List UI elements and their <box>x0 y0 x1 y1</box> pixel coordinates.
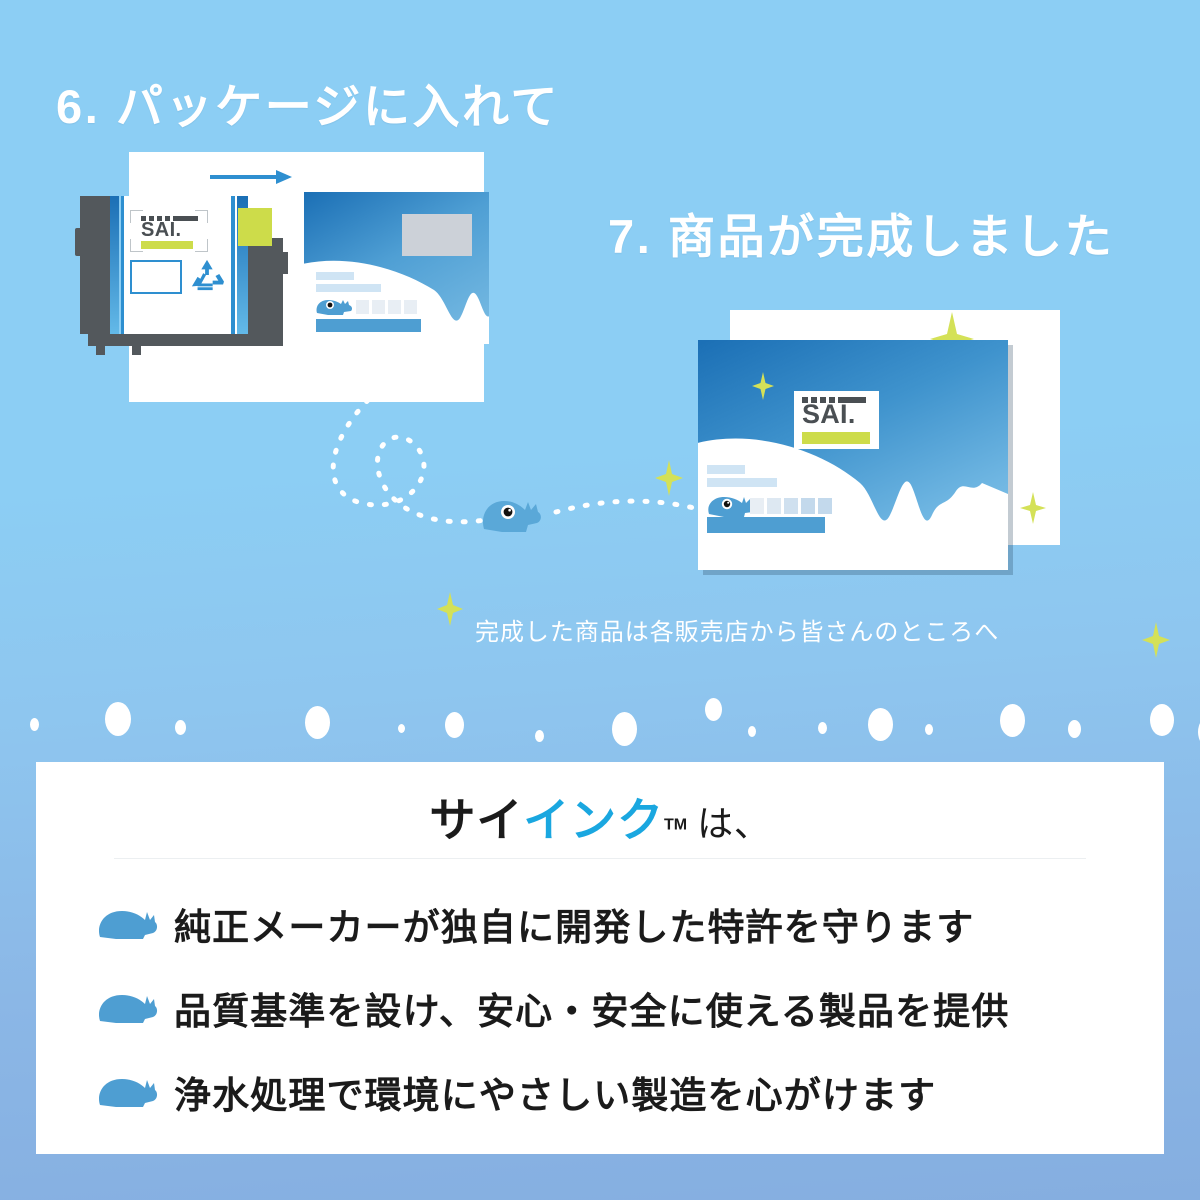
list-item-label: 浄水処理で環境にやさしい製造を心がけます <box>174 1065 936 1119</box>
packaging-illustration: SAI. <box>80 130 500 415</box>
list-item-label: 純正メーカーが独自に開発した特許を守ります <box>174 897 974 951</box>
divider-dot <box>612 712 637 746</box>
packaging-machine: SAI. <box>80 196 292 348</box>
list-item-label: 品質基準を設け、安心・安全に使える製品を提供 <box>174 981 1009 1035</box>
rhino-mascot-icon <box>480 495 542 535</box>
divider-dot <box>1150 704 1174 736</box>
dot-divider <box>0 690 1200 740</box>
sai-logo-text: SAI. <box>802 401 856 428</box>
recycle-icon <box>188 258 226 292</box>
sai-logo-text: SAI. <box>141 220 182 240</box>
arrow-right-icon <box>210 170 300 184</box>
up-arrow-icon <box>238 208 272 246</box>
divider-dot <box>398 724 405 733</box>
divider-dot <box>445 712 464 738</box>
divider-dot <box>925 724 933 735</box>
list-item: 品質基準を設け、安心・安全に使える製品を提供 <box>96 966 1106 1050</box>
rhino-mascot-icon <box>314 296 354 316</box>
brand-cyan-text: インク <box>523 794 664 846</box>
divider-dot <box>175 720 186 735</box>
finished-product-illustration: SAI. <box>690 300 1070 575</box>
divider-dot <box>818 722 827 734</box>
card-divider <box>114 858 1086 859</box>
package-logo-sai: SAI. <box>794 391 879 449</box>
brand-title: サイインクTMは、 <box>36 784 1164 850</box>
sparkle-icon <box>437 592 463 626</box>
brand-card: サイインクTMは、 純正メーカーが独自に開発した特許を守ります 品質基準を設け、… <box>36 762 1164 1154</box>
box-panel <box>130 260 182 294</box>
machine-knob-icon <box>75 228 84 256</box>
product-package-small <box>304 192 489 344</box>
sparkle-icon <box>1020 492 1046 524</box>
rhino-bullet-icon <box>96 1075 158 1109</box>
step-6-heading: 6. パッケージに入れて <box>56 68 560 137</box>
divider-dot <box>1000 704 1025 737</box>
trademark-mark: TM <box>664 817 687 834</box>
benefit-list: 純正メーカーが独自に開発した特許を守ります 品質基準を設け、安心・安全に使える製… <box>96 882 1106 1134</box>
divider-dot <box>305 706 330 739</box>
box-logo-sai: SAI. <box>130 210 208 252</box>
step-7-heading: 7. 商品が完成しました <box>608 198 1114 267</box>
rhino-bullet-icon <box>96 991 158 1025</box>
sparkle-icon <box>655 460 683 496</box>
list-item: 純正メーカーが独自に開発した特許を守ります <box>96 882 1106 966</box>
infographic-page: 6. パッケージに入れて <box>0 0 1200 1200</box>
sparkle-icon <box>1142 622 1170 658</box>
list-item: 浄水処理で環境にやさしい製造を心がけます <box>96 1050 1106 1134</box>
rhino-bullet-icon <box>96 907 158 941</box>
divider-dot <box>30 718 39 731</box>
divider-dot <box>1068 720 1081 738</box>
brand-dark-text: サイ <box>429 794 523 846</box>
divider-dot <box>705 698 722 721</box>
divider-dot <box>105 702 131 736</box>
caption-text: 完成した商品は各販売店から皆さんのところへ <box>475 612 999 647</box>
sparkle-icon <box>752 372 774 400</box>
divider-dot <box>868 708 893 741</box>
divider-dot <box>748 726 756 737</box>
divider-dot <box>535 730 544 742</box>
package-front: SAI. <box>698 340 1008 570</box>
brand-suffix-text: は、 <box>697 803 770 844</box>
